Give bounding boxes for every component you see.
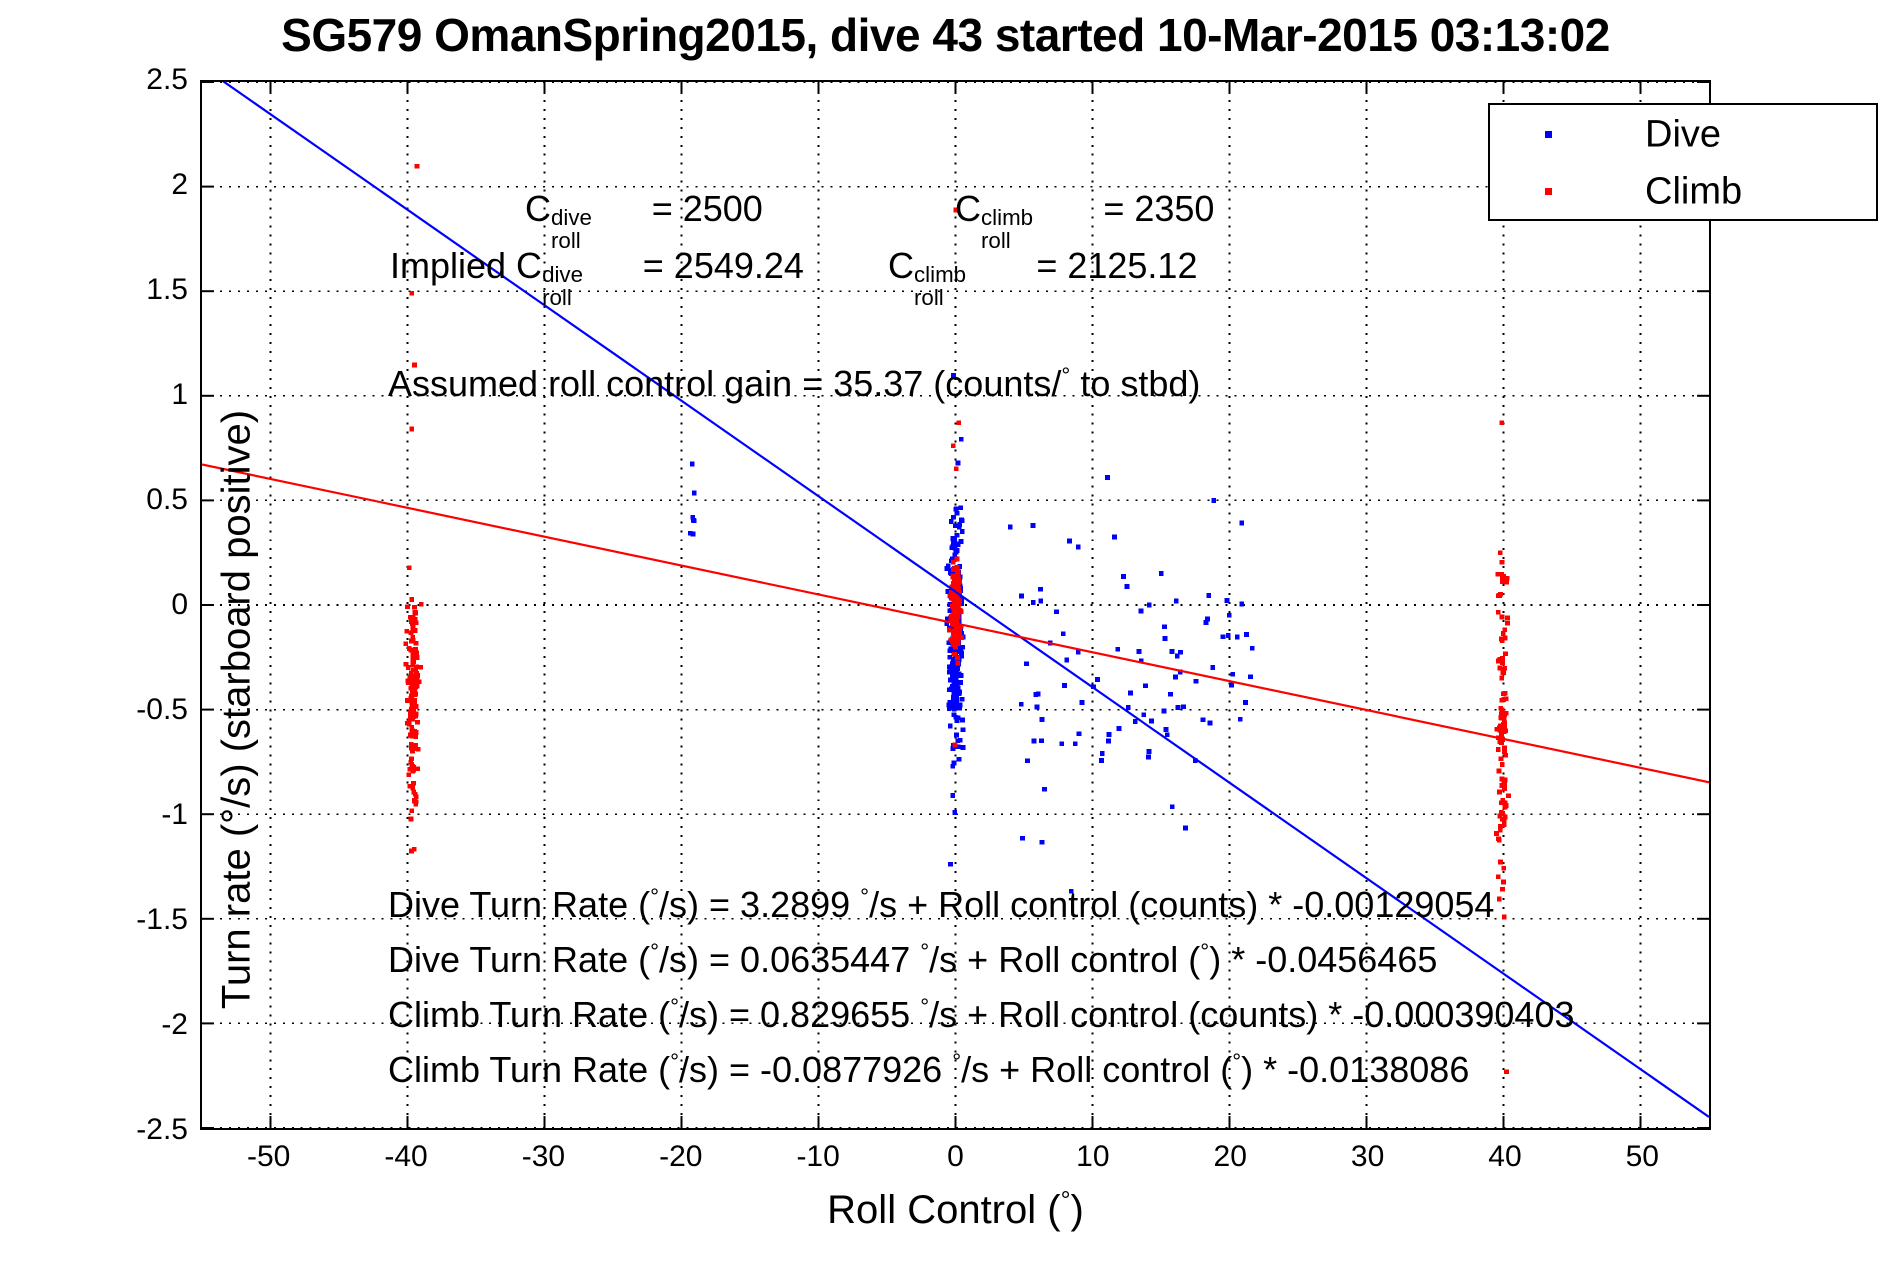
annotation-equation-2: Dive Turn Rate (°/s) = 0.0635447 °/s + R… [388, 939, 1437, 981]
implied-climb-value: = 2125.12 [1026, 245, 1197, 286]
dive-marker-icon [1545, 131, 1552, 138]
x-tick-label: -30 [522, 1140, 565, 1174]
implied-climb-symbol: C [888, 245, 914, 286]
legend[interactable]: Dive Climb [1488, 103, 1878, 221]
degree-icon: ° [1232, 1049, 1241, 1074]
y-tick-label: 1 [171, 378, 188, 412]
eq2-part-b: /s) = 0.0635447 [659, 939, 920, 980]
y-tick-label: -1.5 [136, 903, 188, 937]
eq4-part-c: /s + Roll control ( [961, 1049, 1232, 1090]
y-tick-label: 0.5 [146, 483, 188, 517]
x-tick-label: 30 [1351, 1140, 1384, 1174]
climb-marker-icon [1545, 188, 1552, 195]
eq1-part-c: /s + Roll control (counts) * -0.00129054 [869, 884, 1494, 925]
annotation-equation-4: Climb Turn Rate (°/s) = -0.0877926 °/s +… [388, 1049, 1469, 1091]
y-tick-label: 2.5 [146, 63, 188, 97]
x-tick-label: -10 [796, 1140, 839, 1174]
y-axis-label: Turn rate (°/s) (starboard positive) [215, 185, 260, 1235]
croll-dive-value: = 2500 [642, 188, 763, 229]
x-tick-label: 40 [1488, 1140, 1521, 1174]
gain-text-post: to stbd) [1070, 363, 1200, 404]
degree-icon: ° [920, 994, 929, 1019]
y-tick-label: -0.5 [136, 693, 188, 727]
x-axis-label-pre: Roll Control ( [827, 1188, 1060, 1232]
annotation-croll-dive: Cdiveroll = 2500 [525, 188, 763, 230]
implied-dive-prefix: Implied C [390, 245, 542, 286]
degree-icon: ° [1061, 1188, 1071, 1215]
eq4-part-b: /s) = -0.0877926 [679, 1049, 952, 1090]
degree-icon: ° [920, 939, 929, 964]
y-tick-label: -2 [161, 1008, 188, 1042]
legend-label-dive: Dive [1645, 113, 1721, 156]
eq3-part-c: /s + Roll control (counts) * -0.00039040… [929, 994, 1574, 1035]
degree-icon: ° [1200, 939, 1209, 964]
implied-climb-subscript: roll [914, 285, 944, 311]
y-tick-label: -2.5 [136, 1113, 188, 1147]
eq4-part-a: Climb Turn Rate ( [388, 1049, 670, 1090]
annotation-implied-climb: Cclimbroll = 2125.12 [888, 245, 1197, 287]
degree-icon: ° [860, 884, 869, 909]
x-tick-label: 10 [1076, 1140, 1109, 1174]
x-tick-label: -40 [384, 1140, 427, 1174]
degree-icon: ° [670, 994, 679, 1019]
x-axis-label-post: ) [1071, 1188, 1084, 1232]
croll-climb-symbol: C [955, 188, 981, 229]
x-tick-label: -20 [659, 1140, 702, 1174]
y-tick-label: 2 [171, 168, 188, 202]
degree-icon: ° [650, 939, 659, 964]
croll-climb-value: = 2350 [1093, 188, 1214, 229]
annotation-equation-1: Dive Turn Rate (°/s) = 3.2899 °/s + Roll… [388, 884, 1494, 926]
eq3-part-a: Climb Turn Rate ( [388, 994, 670, 1035]
eq4-part-d: ) * -0.0138086 [1241, 1049, 1469, 1090]
legend-label-climb: Climb [1645, 170, 1742, 213]
legend-item-dive[interactable]: Dive [1490, 105, 1876, 164]
x-axis-label: Roll Control (°) [200, 1188, 1711, 1233]
annotation-equation-3: Climb Turn Rate (°/s) = 0.829655 °/s + R… [388, 994, 1575, 1036]
implied-dive-subscript: roll [542, 285, 572, 311]
eq2-part-a: Dive Turn Rate ( [388, 939, 650, 980]
eq2-part-d: ) * -0.0456465 [1209, 939, 1437, 980]
eq1-part-b: /s) = 3.2899 [659, 884, 860, 925]
implied-dive-value: = 2549.24 [633, 245, 804, 286]
annotation-croll-climb: Cclimbroll = 2350 [955, 188, 1214, 230]
x-tick-label: -50 [247, 1140, 290, 1174]
x-tick-label: 50 [1626, 1140, 1659, 1174]
eq2-part-c: /s + Roll control ( [929, 939, 1200, 980]
croll-dive-symbol: C [525, 188, 551, 229]
annotation-implied-dive: Implied Cdiveroll = 2549.24 [390, 245, 804, 287]
eq3-part-b: /s) = 0.829655 [679, 994, 920, 1035]
x-tick-label: 0 [947, 1140, 964, 1174]
degree-icon: ° [952, 1049, 961, 1074]
gain-text-pre: Assumed roll control gain = 35.37 (count… [388, 363, 1061, 404]
y-tick-label: 0 [171, 588, 188, 622]
page-title: SG579 OmanSpring2015, dive 43 started 10… [0, 8, 1891, 62]
degree-icon: ° [670, 1049, 679, 1074]
degree-icon: ° [650, 884, 659, 909]
degree-icon: ° [1061, 363, 1070, 388]
y-tick-label: 1.5 [146, 273, 188, 307]
annotation-roll-gain: Assumed roll control gain = 35.37 (count… [388, 363, 1200, 405]
eq1-part-a: Dive Turn Rate ( [388, 884, 650, 925]
figure-canvas: SG579 OmanSpring2015, dive 43 started 10… [0, 0, 1891, 1262]
scatter-series-dive [688, 373, 1255, 893]
x-tick-label: 20 [1214, 1140, 1247, 1174]
legend-item-climb[interactable]: Climb [1490, 162, 1876, 221]
y-tick-label: -1 [161, 798, 188, 832]
